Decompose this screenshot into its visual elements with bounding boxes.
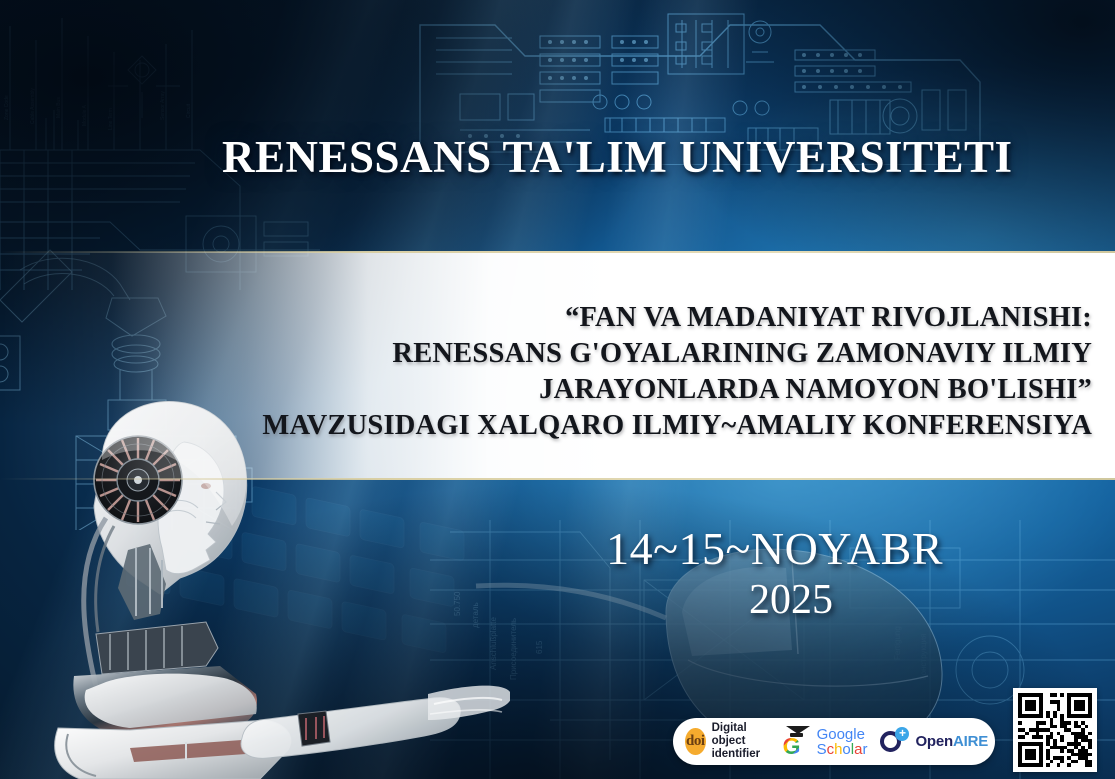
google-scholar-badge[interactable]: G Google Scholar xyxy=(779,727,868,757)
google-scholar-label-line-2: Scholar xyxy=(817,742,868,757)
qr-code[interactable] xyxy=(1013,688,1097,772)
band-rule-top xyxy=(0,251,1115,253)
indexing-badges: doi Digital object identifier G Google S… xyxy=(673,718,995,765)
conference-title-line-1: “FAN VA MADANIYAT RIVOJLANISHI: xyxy=(0,300,1092,336)
openaire-plus-icon: + xyxy=(895,727,909,741)
conference-title-line-2: RENESSANS G'OYALARINING ZAMONAVIY ILMIY xyxy=(0,336,1092,372)
conference-poster: Zone Code Cable Assembly Main Bus Module… xyxy=(0,0,1115,779)
conference-title: “FAN VA MADANIYAT RIVOJLANISHI: RENESSAN… xyxy=(0,300,1092,444)
doi-badge[interactable]: doi Digital object identifier xyxy=(685,722,767,761)
band-rule-bottom xyxy=(0,478,1115,480)
openaire-label-open: Open xyxy=(915,733,953,750)
openaire-label: OpenAIRE xyxy=(915,733,988,750)
doi-label-line-2: identifier xyxy=(712,748,767,761)
university-name: RENESSANS TA'LIM UNIVERSITETI xyxy=(222,131,1013,183)
google-scholar-label-line-1: Google xyxy=(817,727,868,742)
conference-title-line-4: MAVZUSIDAGI XALQARO ILMIY~AMALIY KONFERE… xyxy=(0,408,1092,444)
openaire-label-aire: AIRE xyxy=(953,733,988,750)
conference-title-line-3: JARAYONLARDA NAMOYON BO'LISHI” xyxy=(0,372,1092,408)
qr-code-matrix xyxy=(1018,693,1092,767)
event-date-days: 14~15~NOYABR xyxy=(0,523,943,575)
google-g-icon: G xyxy=(783,735,801,758)
google-scholar-icon: G xyxy=(779,727,811,757)
openaire-icon: + xyxy=(879,727,909,757)
google-scholar-label: Google Scholar xyxy=(817,727,868,757)
event-date: 14~15~NOYABR 2025 xyxy=(0,523,943,625)
doi-label: Digital object identifier xyxy=(712,722,767,761)
doi-icon: doi xyxy=(685,728,706,755)
doi-label-line-1: Digital object xyxy=(712,722,767,748)
event-date-year: 2025 xyxy=(0,575,943,625)
openaire-badge[interactable]: + OpenAIRE xyxy=(879,727,988,757)
